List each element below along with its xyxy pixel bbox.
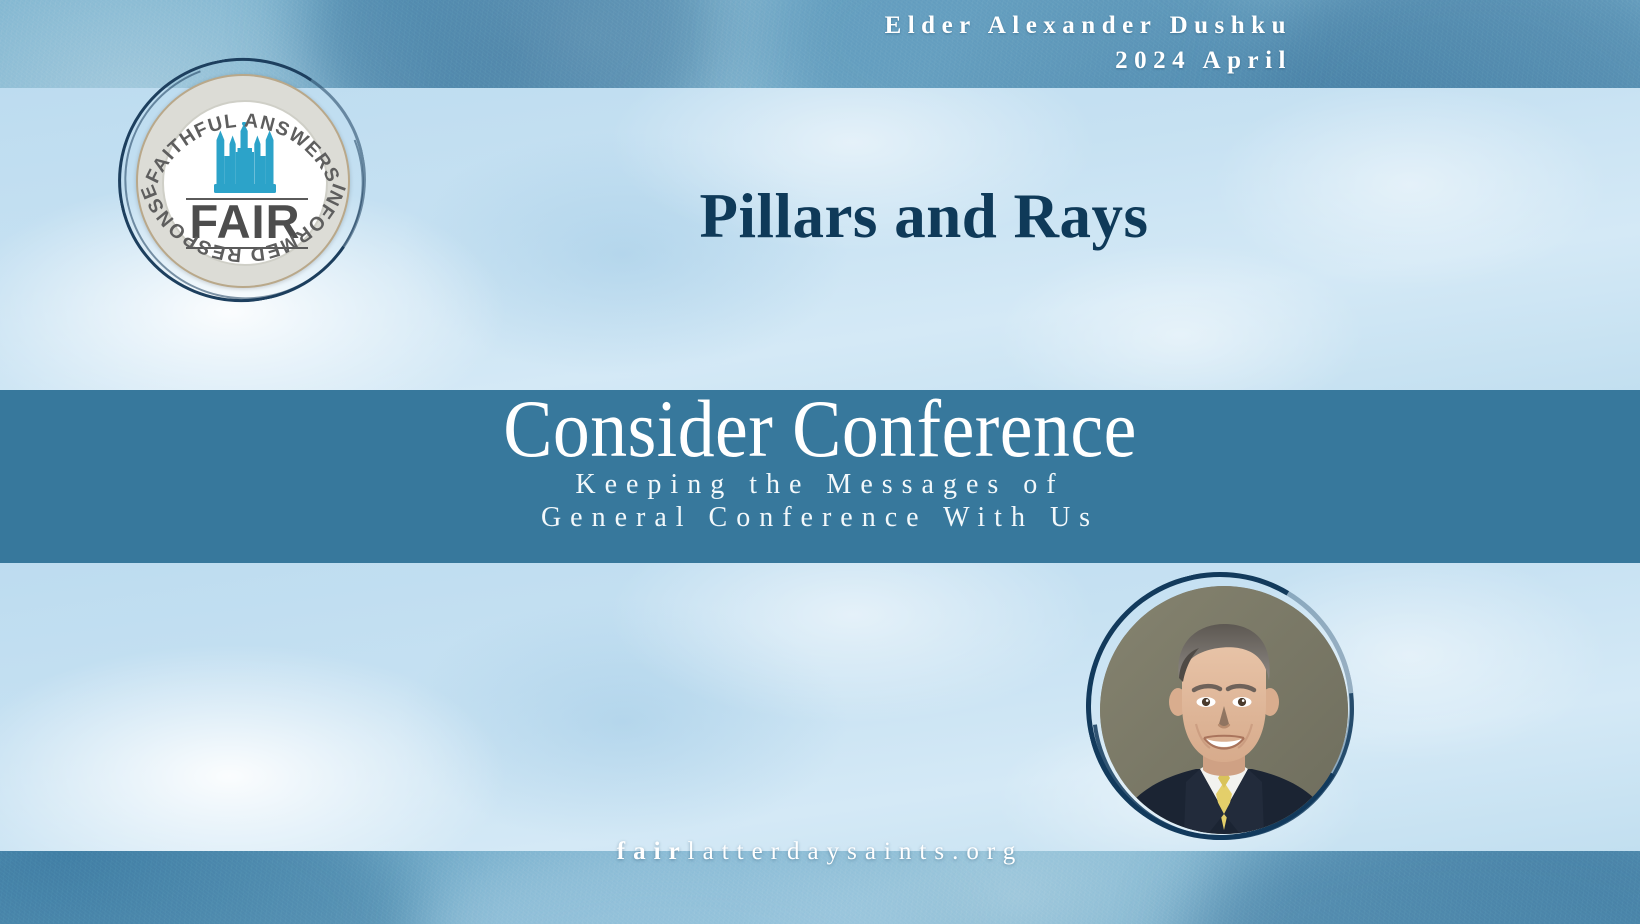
- page-title: Pillars and Rays: [380, 176, 1468, 256]
- logo-arc-text: FAITHFUL ANSWERS INFORMED RESPONSE: [136, 74, 350, 288]
- headshot-illustration: [1100, 586, 1348, 834]
- speaker-portrait: [1090, 576, 1358, 844]
- series-subtitle-line-2: General Conference With Us: [0, 501, 1640, 534]
- logo-arc-top-text: FAITHFUL ANSWERS: [142, 110, 345, 187]
- series-subtitle: Keeping the Messages of General Conferen…: [0, 468, 1640, 534]
- portrait-photo: [1100, 586, 1348, 834]
- conference-date: 2024 April: [885, 43, 1292, 78]
- footer-domain: latterdaysaints.org: [688, 838, 1024, 865]
- speaker-name: Elder Alexander Dushku: [885, 8, 1292, 43]
- logo-arc-bottom-text: INFORMED RESPONSE: [136, 181, 349, 266]
- footer-brand: fair: [617, 838, 688, 865]
- slide-canvas: Elder Alexander Dushku 2024 April: [0, 0, 1640, 924]
- series-title: Consider Conference: [82, 381, 1558, 477]
- fair-logo[interactable]: FAIR FAITHFUL ANSWERS INFORMED RESPONSE: [110, 52, 370, 270]
- lower-light-band: [0, 563, 1640, 851]
- series-subtitle-line-1: Keeping the Messages of: [0, 468, 1640, 501]
- footer-url[interactable]: fairlatterdaysaints.org: [0, 838, 1640, 866]
- header-meta: Elder Alexander Dushku 2024 April: [885, 8, 1292, 78]
